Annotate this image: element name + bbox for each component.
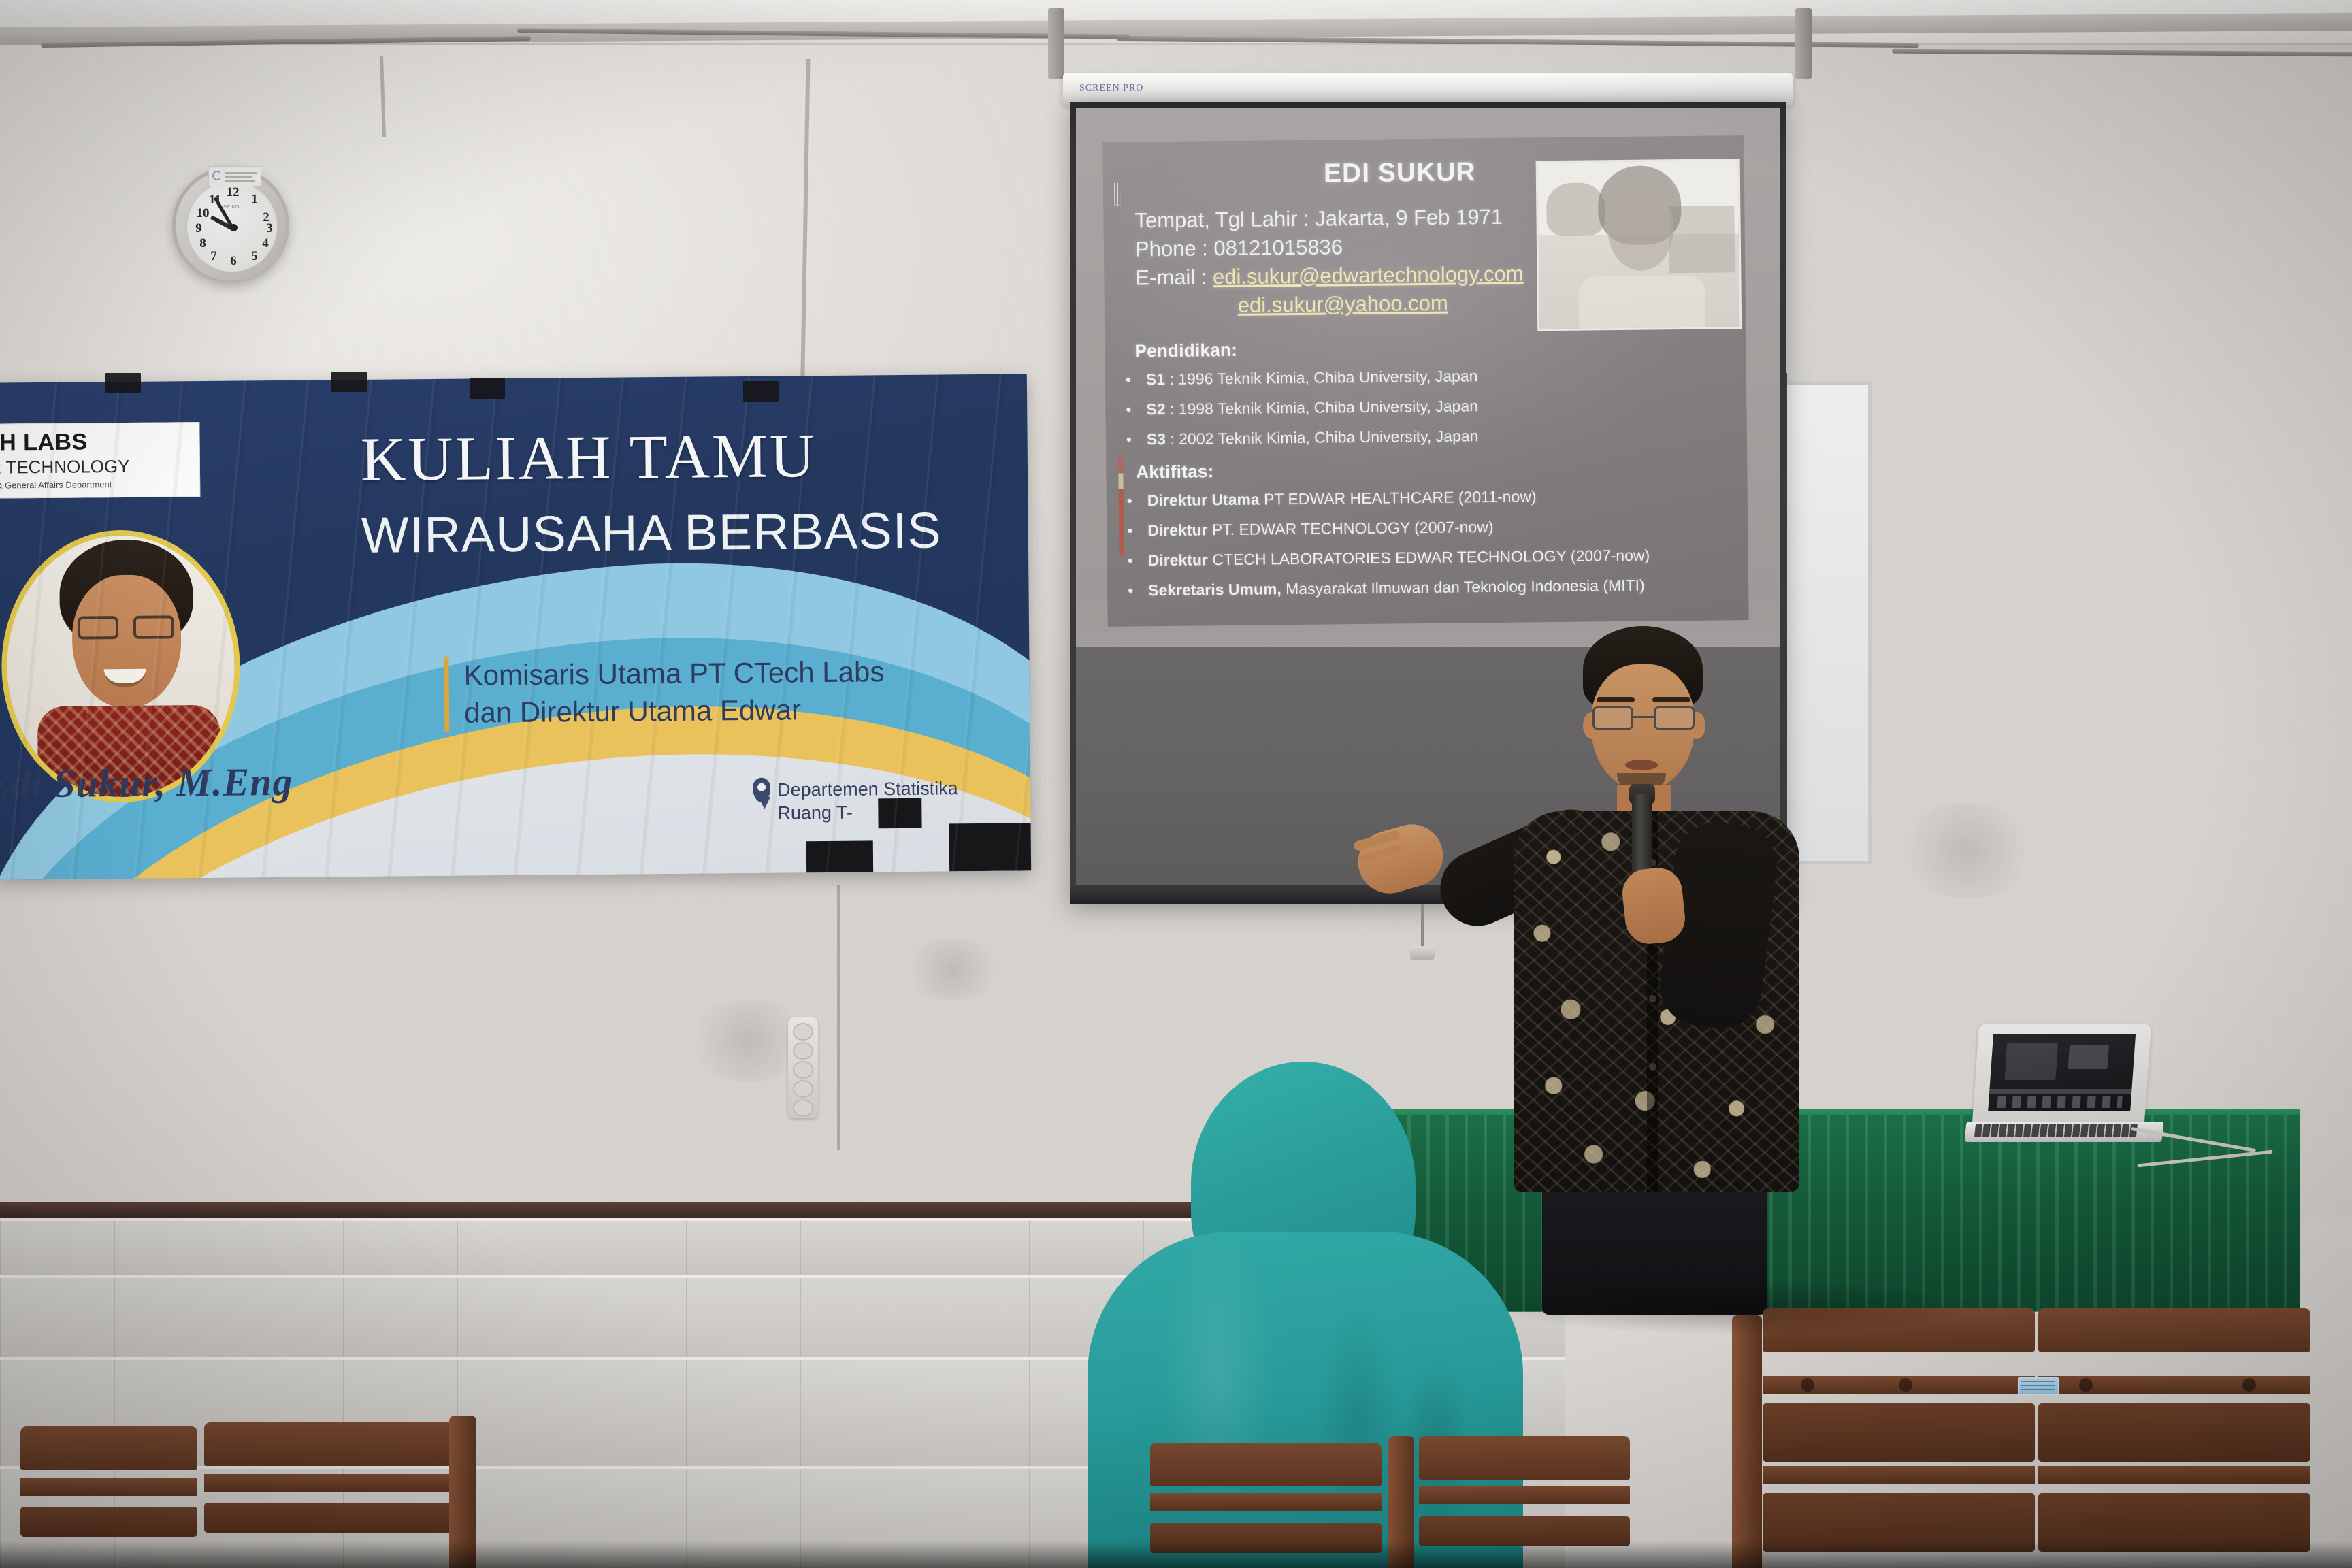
- chair-slat: [20, 1507, 197, 1537]
- chair-hole: [1899, 1378, 1912, 1392]
- shirt-button: [1649, 995, 1656, 1002]
- wall-smudge: [1892, 803, 2042, 898]
- screen-pull-handle[interactable]: [1410, 946, 1435, 960]
- clock-numeral: 5: [247, 249, 262, 264]
- speaker-eyebrow-left: [1597, 697, 1635, 702]
- sticker-line: [225, 172, 257, 174]
- photo-shirt: [1578, 276, 1705, 331]
- slide-email-line-2: edi.sukur@yahoo.com: [1238, 291, 1448, 318]
- laptop-window: [2068, 1045, 2109, 1069]
- banner-role: Komisaris Utama PT CTech Labs dan Direkt…: [444, 651, 1030, 732]
- education-degree: S3: [1147, 430, 1166, 448]
- education-text: : 2002 Teknik Kimia, Chiba University, J…: [1166, 427, 1479, 448]
- slide-activities-heading: Aktifitas:: [1136, 461, 1214, 483]
- activity-role: Sekretaris Umum,: [1148, 580, 1281, 599]
- chair-slat: [2038, 1403, 2310, 1462]
- wall-power-strip[interactable]: [788, 1017, 818, 1118]
- speaker-glasses: [1592, 706, 1695, 731]
- activity-text: Masyarakat Ilmuwan dan Teknolog Indonesi…: [1281, 576, 1645, 598]
- slide-education-item: S1 : 1996 Teknik Kimia, Chiba University…: [1146, 367, 1478, 389]
- ctech-labs-logo: CTECH LABS EDWAR TECHNOLOGY Human Capita…: [0, 422, 200, 499]
- chair-backrest-top: [204, 1422, 456, 1466]
- chair-rail: [2038, 1466, 2310, 1484]
- asset-tag-text: [2021, 1381, 2055, 1392]
- venue-room: Ruang T-: [777, 800, 958, 825]
- laptop-keyboard[interactable]: [1974, 1124, 2138, 1137]
- slide-email-label: E-mail :: [1135, 265, 1213, 289]
- chair-backrest-top: [1150, 1443, 1382, 1486]
- slide-email-2[interactable]: edi.sukur@yahoo.com: [1238, 291, 1448, 317]
- clock-numeral: 3: [262, 221, 277, 236]
- clock-numeral: 10: [195, 206, 210, 221]
- logo-line-2: EDWAR TECHNOLOGY: [0, 455, 193, 478]
- chair-rail: [1763, 1376, 2035, 1394]
- slide-email-1[interactable]: edi.sukur@edwartechnology.com: [1213, 261, 1524, 289]
- education-text: : 1996 Teknik Kimia, Chiba University, J…: [1165, 367, 1478, 388]
- slide-education-heading: Pendidikan:: [1134, 340, 1237, 362]
- activity-role: Direktur Utama: [1147, 491, 1260, 510]
- clock-center-pin: [230, 224, 238, 231]
- chair-backrest-top: [2038, 1308, 2310, 1352]
- laptop-menu-bar: [1989, 1089, 2132, 1094]
- chair-backrest-top: [20, 1426, 197, 1470]
- clock-brand: SEIKO: [223, 205, 240, 210]
- slide-education-item: S3 : 2002 Teknik Kimia, Chiba University…: [1147, 427, 1479, 448]
- chair-rail: [1150, 1493, 1382, 1511]
- redaction-block: [949, 823, 1032, 871]
- clock-numeral: 7: [206, 249, 221, 264]
- laptop-window: [2004, 1043, 2058, 1081]
- image-bottom-shade: [0, 1541, 2352, 1568]
- screen-bracket-right: [1795, 8, 1812, 79]
- slide-portrait-photo: [1536, 159, 1742, 331]
- venue-department: Departemen Statistika: [777, 777, 958, 802]
- sticker-line: [225, 180, 255, 182]
- glasses-bridge: [1633, 716, 1654, 718]
- laptop-screen[interactable]: [1988, 1034, 2136, 1111]
- laptop-dock: [1997, 1096, 2123, 1108]
- glasses-lens-left: [1592, 706, 1633, 730]
- slide-activity-item: Direktur PT. EDWAR TECHNOLOGY (2007-now): [1147, 518, 1494, 540]
- activity-role: Direktur: [1148, 551, 1208, 569]
- wall-crack: [837, 885, 840, 1150]
- education-degree: S2: [1146, 400, 1165, 418]
- speaker-mouth: [1625, 759, 1658, 770]
- chair-rail: [1763, 1466, 2035, 1484]
- screen-pull-cord[interactable]: [1421, 904, 1424, 949]
- location-pin-tip-icon: [758, 797, 770, 809]
- laptop-lid: [1972, 1024, 2151, 1124]
- clock-numeral: 6: [226, 254, 241, 269]
- banner-signature: Edi Sukur, M.Eng: [0, 759, 293, 807]
- chair-rail: [20, 1478, 197, 1496]
- wall-clock: 12 1 2 3 4 5 6 7 8 9 10 11 SEIKO: [172, 167, 289, 284]
- clock-numeral: 8: [195, 236, 210, 251]
- banner-subtitle: WIRAUSAHA BERBASIS: [361, 501, 1001, 564]
- redaction-block: [806, 840, 873, 874]
- chair-hole: [2242, 1378, 2256, 1392]
- activity-text: PT. EDWAR TECHNOLOGY (2007-now): [1207, 518, 1493, 538]
- chair-rail: [204, 1474, 456, 1492]
- clock-numeral: 9: [191, 221, 206, 236]
- wall-smudge: [898, 939, 1007, 1000]
- slide-education-item: S2 : 1998 Teknik Kimia, Chiba University…: [1146, 397, 1478, 419]
- outlet-socket[interactable]: [793, 1061, 813, 1079]
- speaker-presenting: [1484, 626, 1837, 1307]
- floor-shadow: [1497, 1279, 1974, 1334]
- banner-tape: [331, 372, 367, 392]
- wooden-chair[interactable]: [1763, 1308, 2035, 1568]
- photo-face: [1607, 189, 1673, 271]
- chair-asset-tag: [2018, 1377, 2059, 1395]
- speaker-right-hand: [1620, 866, 1687, 947]
- shirt-button: [1649, 1063, 1656, 1071]
- sticker-logo-icon: [212, 171, 222, 180]
- banner-role-line-1: Komisaris Utama PT CTech Labs: [463, 651, 1029, 694]
- sticker-line: [225, 176, 252, 178]
- chair-hole: [2079, 1378, 2093, 1392]
- slide-email-line-1: E-mail : edi.sukur@edwartechnology.com: [1135, 261, 1524, 290]
- clock-numeral: 12: [225, 185, 240, 200]
- outlet-socket[interactable]: [793, 1080, 813, 1098]
- wooden-chair[interactable]: [2038, 1308, 2310, 1568]
- portrait-glasses-right: [133, 615, 174, 639]
- portrait-glasses-left: [78, 616, 118, 640]
- projected-slide: EDI SUKUR Tempat, Tgl Lahir : Jakarta, 9…: [1102, 135, 1748, 627]
- chair-slat: [204, 1503, 456, 1533]
- portrait-face: [71, 574, 182, 708]
- logo-technology: TECHNOLOGY: [1, 456, 130, 478]
- event-banner: CTECH LABS EDWAR TECHNOLOGY Human Capita…: [0, 374, 1031, 879]
- outlet-socket[interactable]: [793, 1023, 813, 1041]
- activity-role: Direktur: [1147, 521, 1207, 539]
- banner-title: KULIAH TAMU: [360, 419, 878, 495]
- slide-phone-line: Phone : 08121015836: [1135, 235, 1343, 261]
- slide-title: EDI SUKUR: [1237, 157, 1563, 190]
- chair-rail: [1419, 1486, 1630, 1504]
- slide-birth-line: Tempat, Tgl Lahir : Jakarta, 9 Feb 1971: [1134, 205, 1503, 233]
- clock-face: 12 1 2 3 4 5 6 7 8 9 10 11 SEIKO: [186, 181, 278, 272]
- screen-bracket-left: [1048, 8, 1064, 79]
- logo-line-1: CTECH LABS: [0, 428, 193, 457]
- logo-line-3: Human Capital & General Affairs Departme…: [0, 478, 193, 491]
- chair-backrest-top: [1419, 1436, 1630, 1480]
- outlet-socket[interactable]: [793, 1042, 813, 1060]
- projector-screen-housing: SCREEN PRO: [1063, 73, 1793, 105]
- education-degree: S1: [1146, 370, 1165, 388]
- banner-venue: Departemen Statistika Ruang T-: [777, 777, 958, 825]
- banner-tape: [105, 373, 141, 393]
- clock-numeral: 1: [247, 192, 262, 207]
- speaker-eyebrow-right: [1652, 697, 1690, 702]
- education-text: : 1998 Teknik Kimia, Chiba University, J…: [1165, 397, 1478, 418]
- clock-sticker: [208, 166, 261, 186]
- chair-hole: [1801, 1378, 1814, 1392]
- photo-tree: [1546, 182, 1605, 236]
- slide-decoration: [1114, 183, 1120, 206]
- banner-tape: [470, 378, 505, 399]
- redaction-block: [878, 798, 921, 829]
- glasses-lens-right: [1654, 706, 1695, 730]
- chair-rail: [2038, 1376, 2310, 1394]
- projector-screen-brand: SCREEN PRO: [1079, 83, 1143, 94]
- photo-scene: 12 1 2 3 4 5 6 7 8 9 10 11 SEIKO: [0, 0, 2352, 1568]
- activity-text: CTECH LABORATORIES EDWAR TECHNOLOGY (200…: [1208, 546, 1650, 569]
- outlet-socket[interactable]: [793, 1099, 813, 1117]
- chair-post: [1732, 1315, 1762, 1568]
- banner-role-line-2: dan Direktur Utama Edwar: [464, 689, 1030, 732]
- activity-text: PT EDWAR HEALTHCARE (2011-now): [1260, 487, 1537, 508]
- banner-tape: [743, 381, 779, 402]
- chair-slat: [1763, 1403, 2035, 1462]
